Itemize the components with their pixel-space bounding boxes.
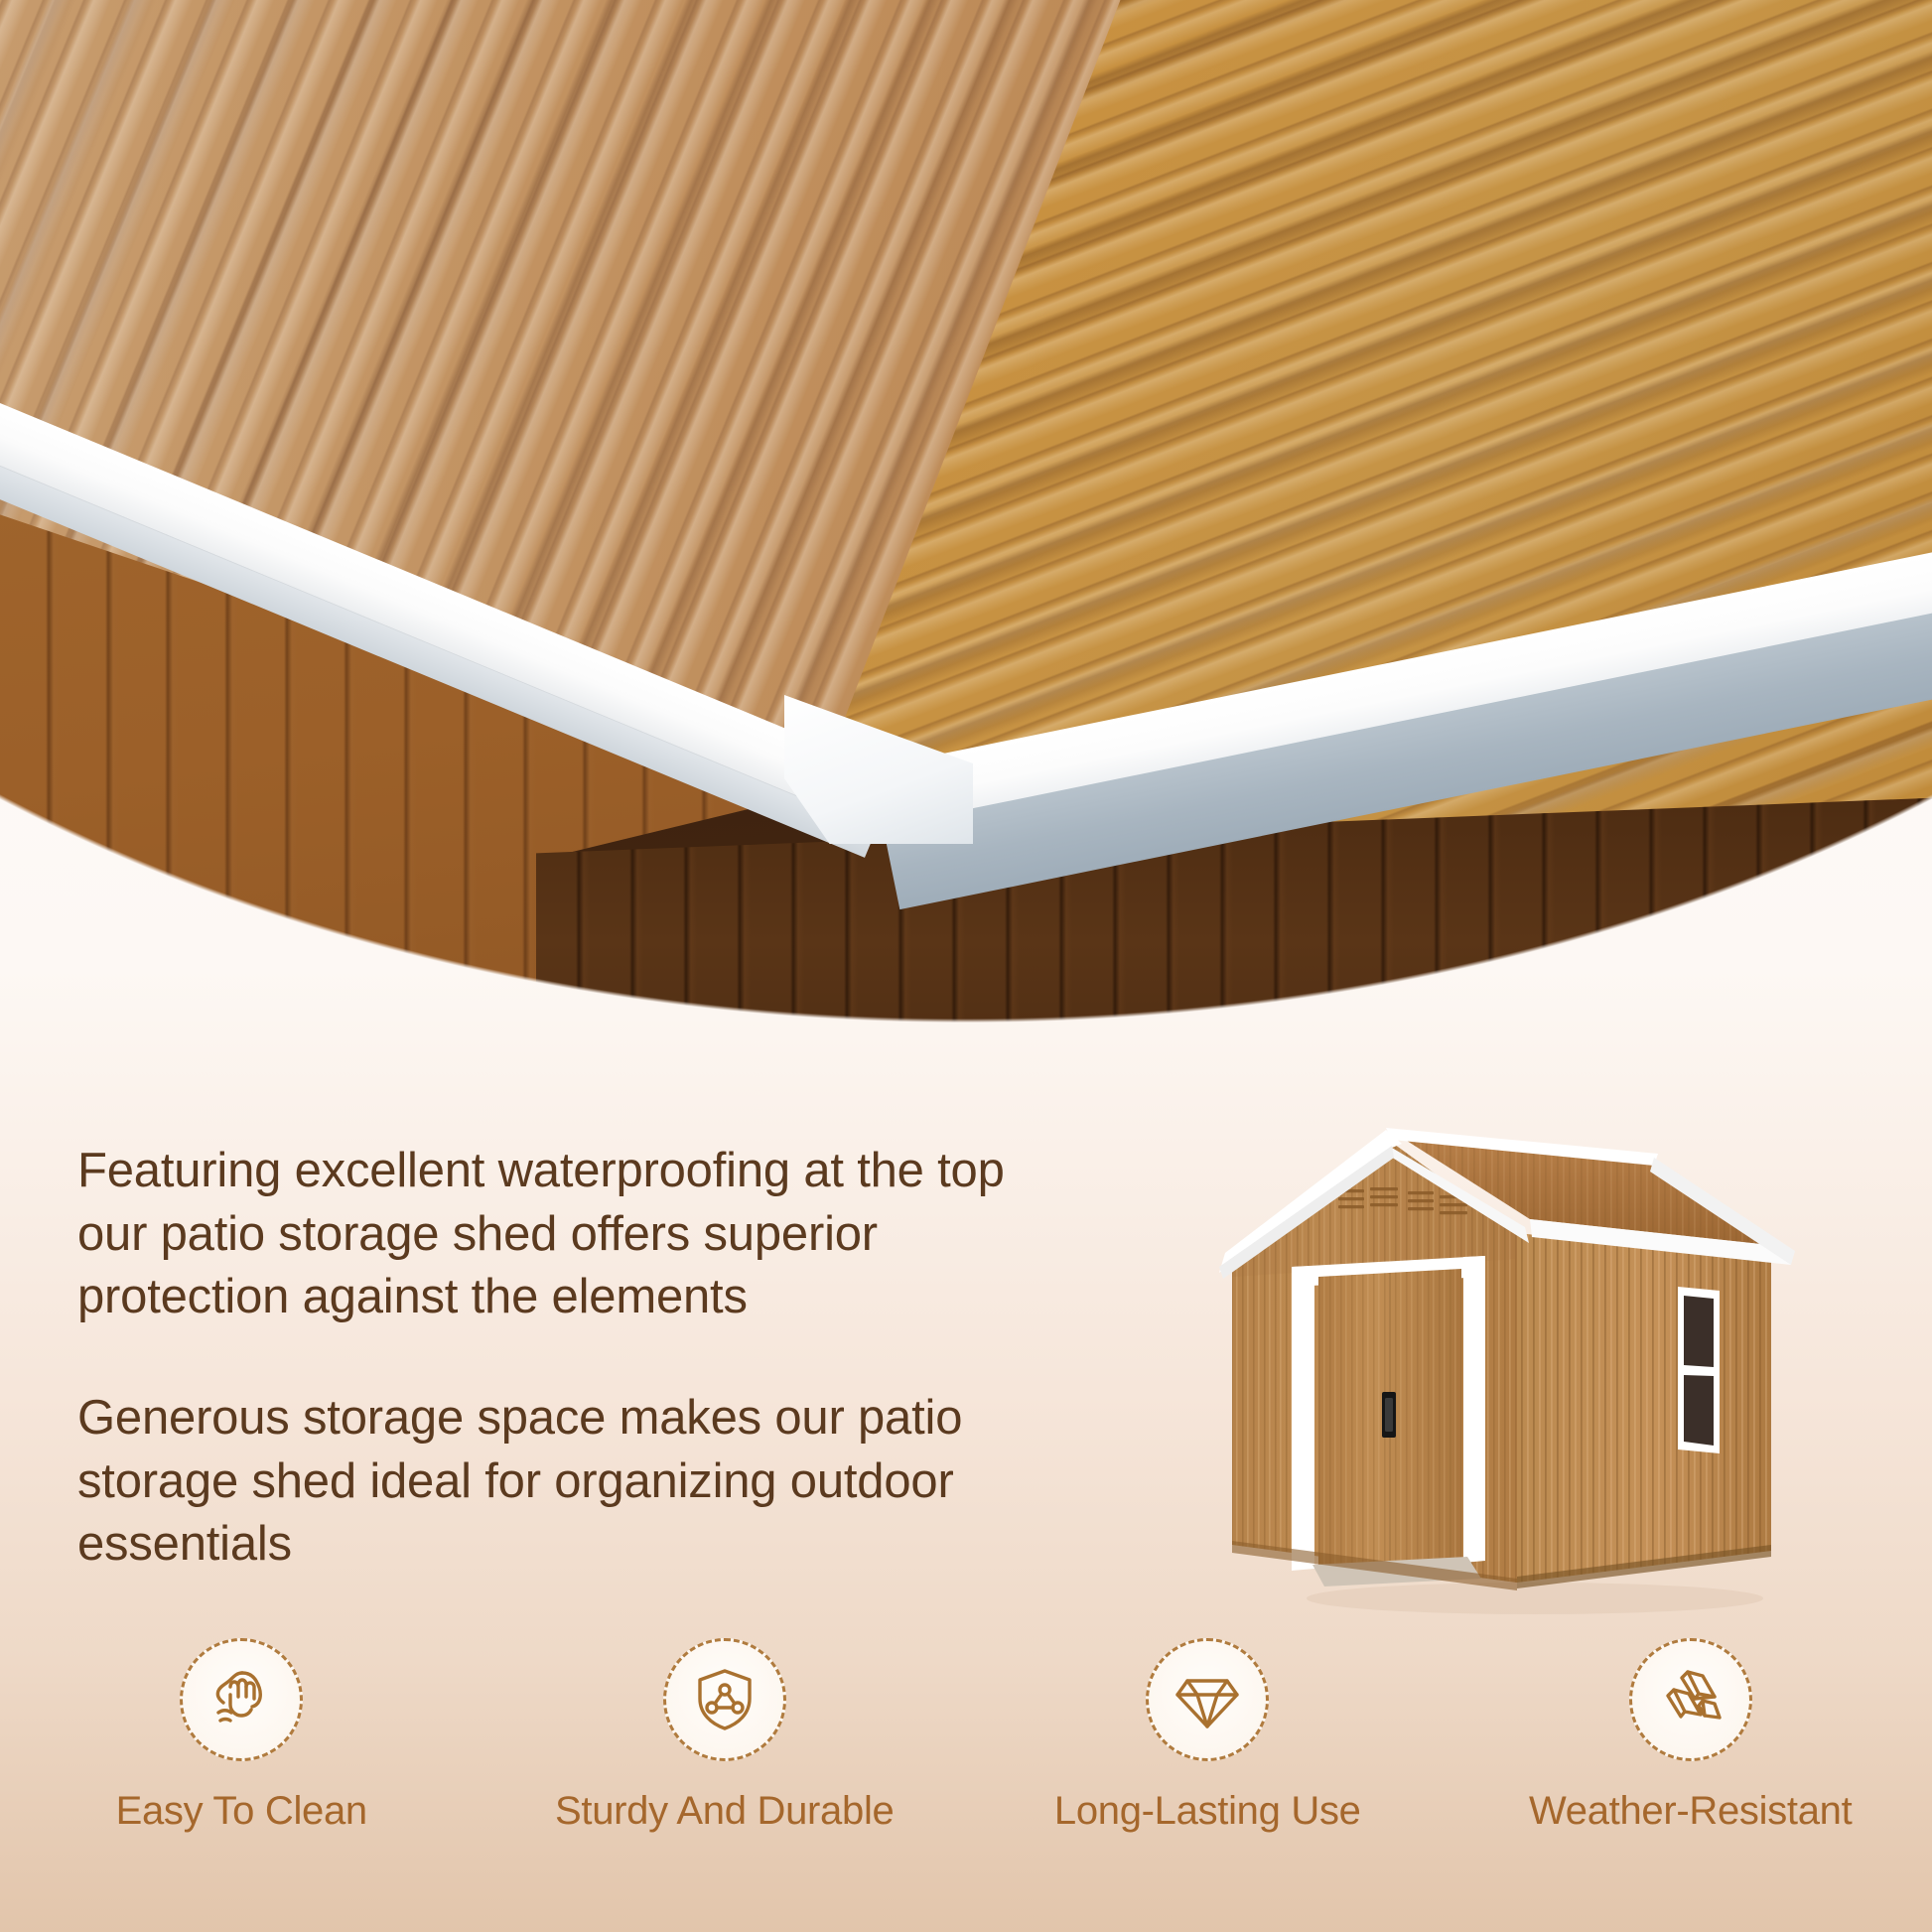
metal-ingots-icon <box>1654 1663 1727 1736</box>
feature-item-easy-to-clean[interactable]: Easy To Clean <box>0 1638 483 1916</box>
shed-side-wall <box>1517 1233 1771 1588</box>
feature-item-sturdy-and-durable[interactable]: Sturdy And Durable <box>483 1638 967 1916</box>
feature-badge <box>1629 1638 1752 1761</box>
copy-paragraph-1: Featuring excellent waterproofing at the… <box>77 1140 1080 1329</box>
feature-label: Long-Lasting Use <box>1054 1789 1361 1834</box>
product-shed-illustration <box>1187 1082 1872 1628</box>
hand-wiping-cloth-icon <box>205 1663 278 1736</box>
feature-label: Sturdy And Durable <box>555 1789 894 1834</box>
feature-badge <box>1146 1638 1269 1761</box>
hero-photo-content <box>0 0 1932 1082</box>
feature-badge <box>180 1638 303 1761</box>
feature-item-long-lasting-use[interactable]: Long-Lasting Use <box>966 1638 1449 1916</box>
hero-curved-mask <box>0 0 1932 1082</box>
feature-label: Weather-Resistant <box>1529 1789 1852 1834</box>
feature-item-weather-resistant[interactable]: Weather-Resistant <box>1449 1638 1932 1916</box>
shed-svg <box>1187 1082 1872 1628</box>
diamond-gem-icon <box>1171 1663 1244 1736</box>
feature-badge <box>663 1638 786 1761</box>
hero-product-photo <box>0 0 1932 1082</box>
marketing-image-canvas: Featuring excellent waterproofing at the… <box>0 0 1932 1932</box>
shed-ground-shadow <box>1307 1583 1763 1614</box>
feature-label: Easy To Clean <box>116 1789 367 1834</box>
marketing-copy: Featuring excellent waterproofing at the… <box>77 1140 1080 1577</box>
door-handle-icon[interactable] <box>1382 1392 1396 1438</box>
shed-side-window <box>1678 1287 1720 1453</box>
copy-paragraph-2: Generous storage space makes our patio s… <box>77 1387 1080 1577</box>
shield-molecule-icon <box>688 1663 761 1736</box>
feature-strip: Easy To Clean Sturdy And Durable <box>0 1638 1932 1916</box>
